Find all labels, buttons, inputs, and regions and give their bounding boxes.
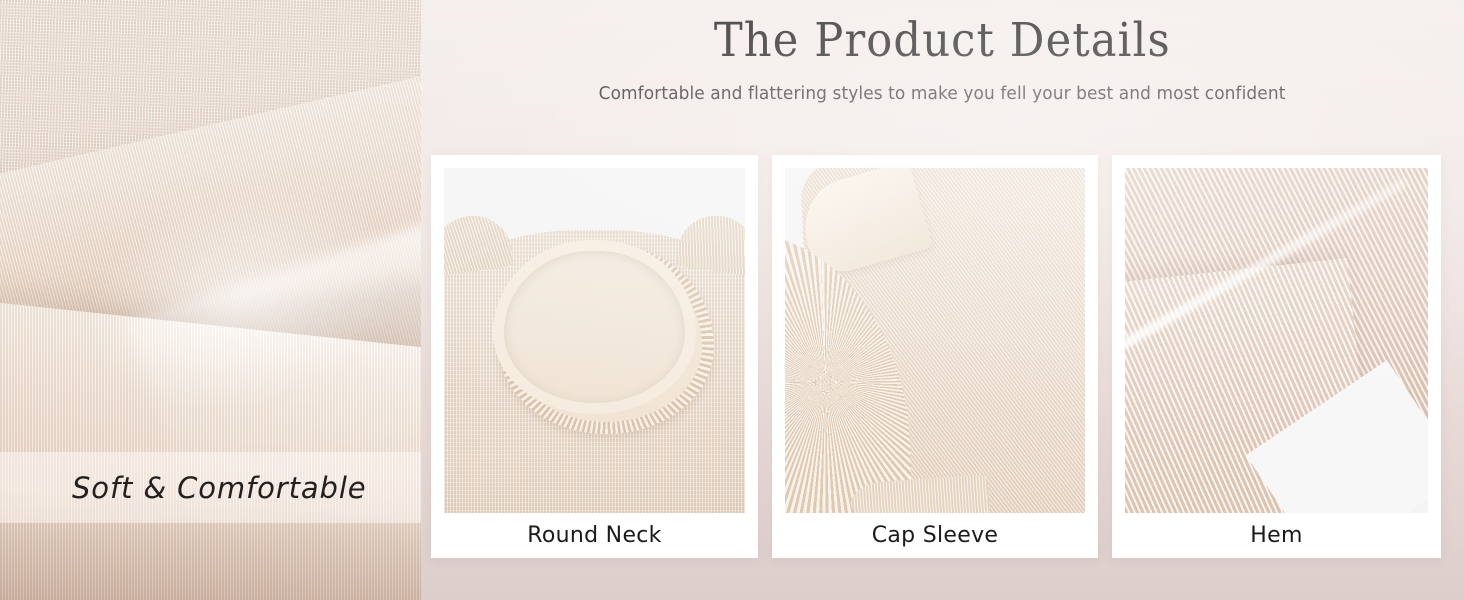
neck-opening — [504, 251, 685, 403]
banner-header: The Product Details Comfortable and flat… — [421, 0, 1464, 150]
product-details-banner: Soft & Comfortable The Product Details C… — [0, 0, 1464, 600]
detail-card-hem[interactable]: Hem — [1112, 155, 1441, 558]
detail-card-round-neck[interactable]: Round Neck — [431, 155, 758, 558]
cap-sleeve-detail-photo — [785, 168, 1085, 513]
hem-detail-photo — [1125, 168, 1428, 513]
soft-comfortable-band: Soft & Comfortable — [0, 452, 421, 523]
detail-card-list: Round Neck Cap Sleeve Hem — [431, 155, 1441, 558]
detail-card-cap-sleeve[interactable]: Cap Sleeve — [772, 155, 1098, 558]
round-neck-detail-photo — [444, 168, 745, 513]
card-caption: Hem — [1125, 513, 1428, 558]
sweater-right-shoulder — [675, 211, 745, 277]
card-caption: Round Neck — [444, 513, 745, 558]
page-subtitle: Comfortable and flattering styles to mak… — [599, 84, 1286, 104]
card-caption: Cap Sleeve — [785, 513, 1085, 558]
soft-comfortable-label: Soft & Comfortable — [72, 471, 367, 505]
page-title: The Product Details — [714, 16, 1171, 65]
knit-fabric-closeup: Soft & Comfortable — [0, 0, 421, 600]
